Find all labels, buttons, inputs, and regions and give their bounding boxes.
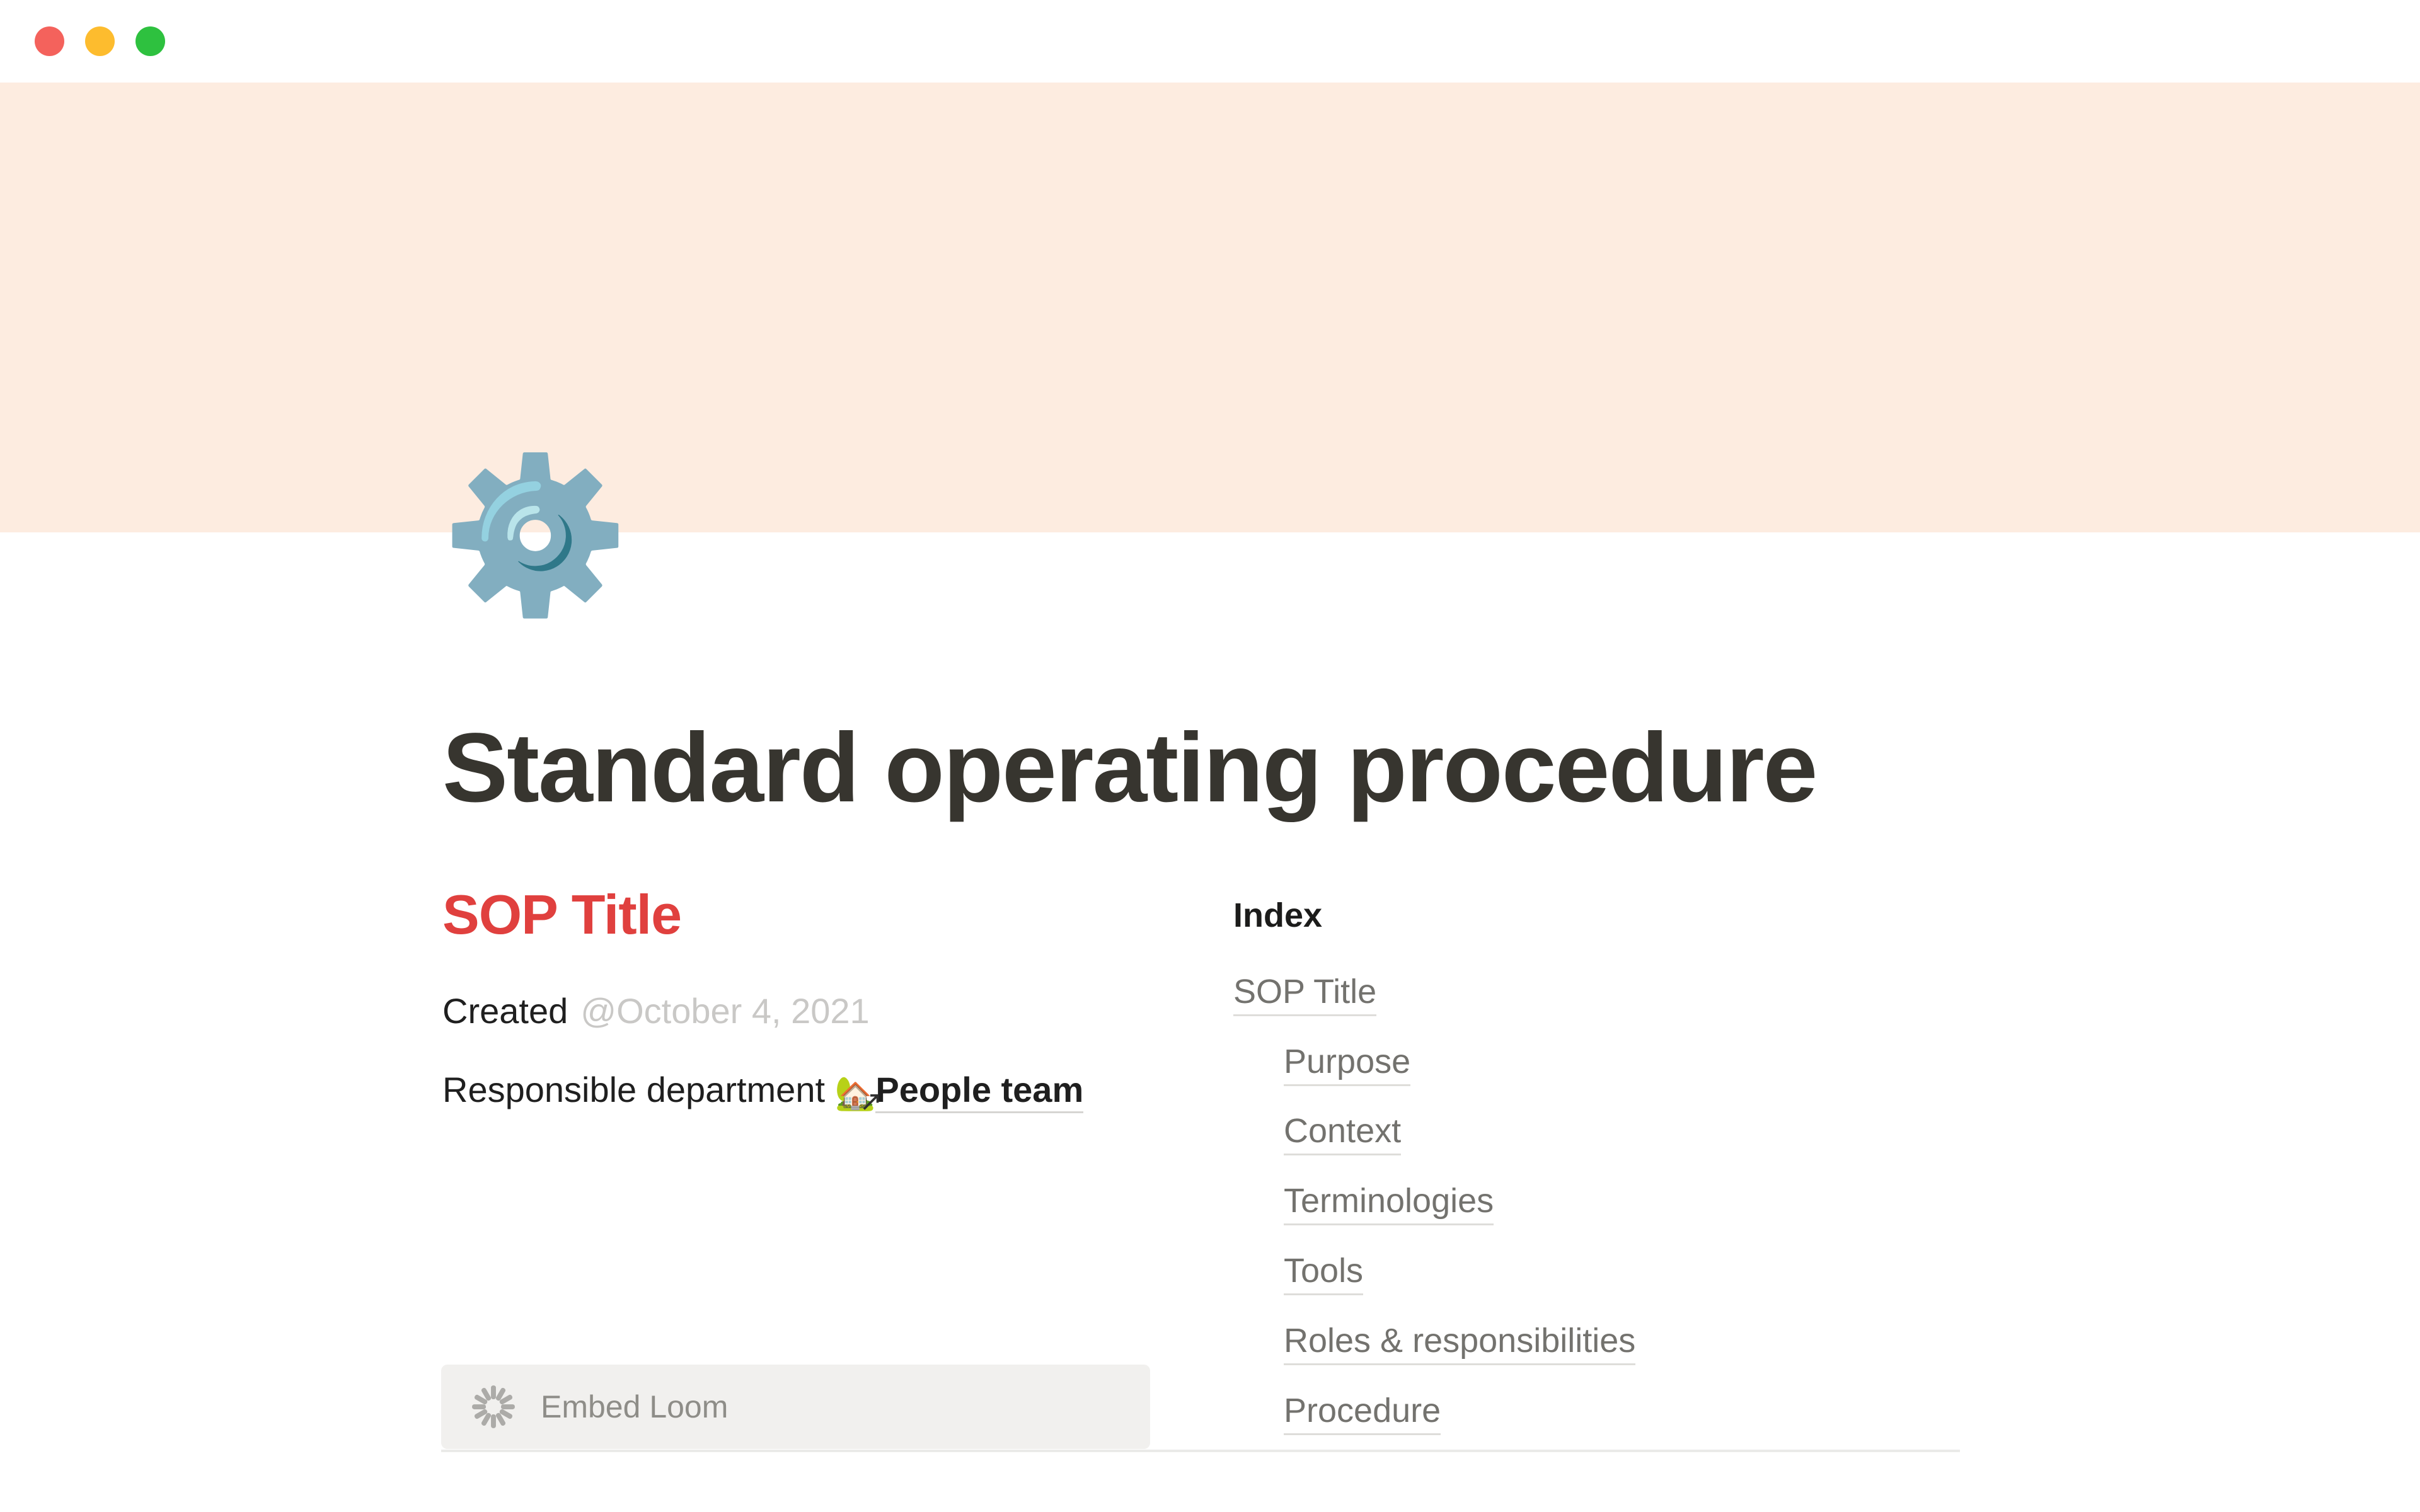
- toc-item-tools: Tools: [1284, 1251, 1966, 1291]
- page-title[interactable]: Standard operating procedure: [442, 717, 1816, 820]
- toc-link-terminologies[interactable]: Terminologies: [1284, 1182, 1494, 1225]
- created-date-value[interactable]: @October 4, 2021: [580, 991, 869, 1031]
- toc-item-procedure: Procedure: [1284, 1390, 1966, 1431]
- toc-link-sop-title[interactable]: SOP Title: [1233, 973, 1376, 1016]
- section-divider: [441, 1450, 1960, 1452]
- created-label: Created: [442, 991, 568, 1031]
- toc-item-sop-title: SOP Title: [1233, 971, 1966, 1012]
- toc-item-roles-responsibilities: Roles & responsibilities: [1284, 1320, 1966, 1361]
- index-heading: Index: [1233, 895, 1966, 936]
- close-window-button[interactable]: [35, 26, 64, 56]
- created-row: Created@October 4, 2021: [442, 985, 1232, 1036]
- app-window: ⚙️ Standard operating procedure SOP Titl…: [0, 0, 2420, 1512]
- embed-loom-label: Embed Loom: [541, 1391, 728, 1423]
- traffic-light-group: [35, 26, 165, 56]
- toc-link-context[interactable]: Context: [1284, 1112, 1401, 1155]
- minimize-window-button[interactable]: [85, 26, 115, 56]
- left-column: SOP Title Created@October 4, 2021 Respon…: [441, 883, 1232, 1116]
- people-team-page-link[interactable]: People team: [875, 1070, 1083, 1113]
- responsible-department-label: Responsible department: [442, 1070, 825, 1109]
- loom-logo-icon: [471, 1385, 516, 1429]
- toc-link-roles-responsibilities[interactable]: Roles & responsibilities: [1284, 1322, 1635, 1365]
- page-content: ⚙️ Standard operating procedure SOP Titl…: [0, 83, 2420, 1512]
- right-column: Index SOP Title Purpose Context Terminol…: [1232, 883, 1966, 1460]
- toc-item-context: Context: [1284, 1111, 1966, 1152]
- zoom-window-button[interactable]: [135, 26, 165, 56]
- gear-icon[interactable]: ⚙️: [441, 447, 618, 623]
- toc-link-procedure[interactable]: Procedure: [1284, 1392, 1441, 1435]
- toc-link-purpose[interactable]: Purpose: [1284, 1043, 1410, 1086]
- toc-link-tools[interactable]: Tools: [1284, 1252, 1363, 1295]
- window-titlebar: [0, 0, 2420, 83]
- responsible-department-row: Responsible department 🏡↗People team: [442, 1064, 1232, 1115]
- sop-title-heading[interactable]: SOP Title: [442, 883, 1232, 946]
- toc-item-purpose: Purpose: [1284, 1041, 1966, 1082]
- two-column-layout: SOP Title Created@October 4, 2021 Respon…: [441, 883, 1966, 1460]
- embed-loom-block[interactable]: Embed Loom: [441, 1365, 1150, 1449]
- toc-item-terminologies: Terminologies: [1284, 1181, 1966, 1222]
